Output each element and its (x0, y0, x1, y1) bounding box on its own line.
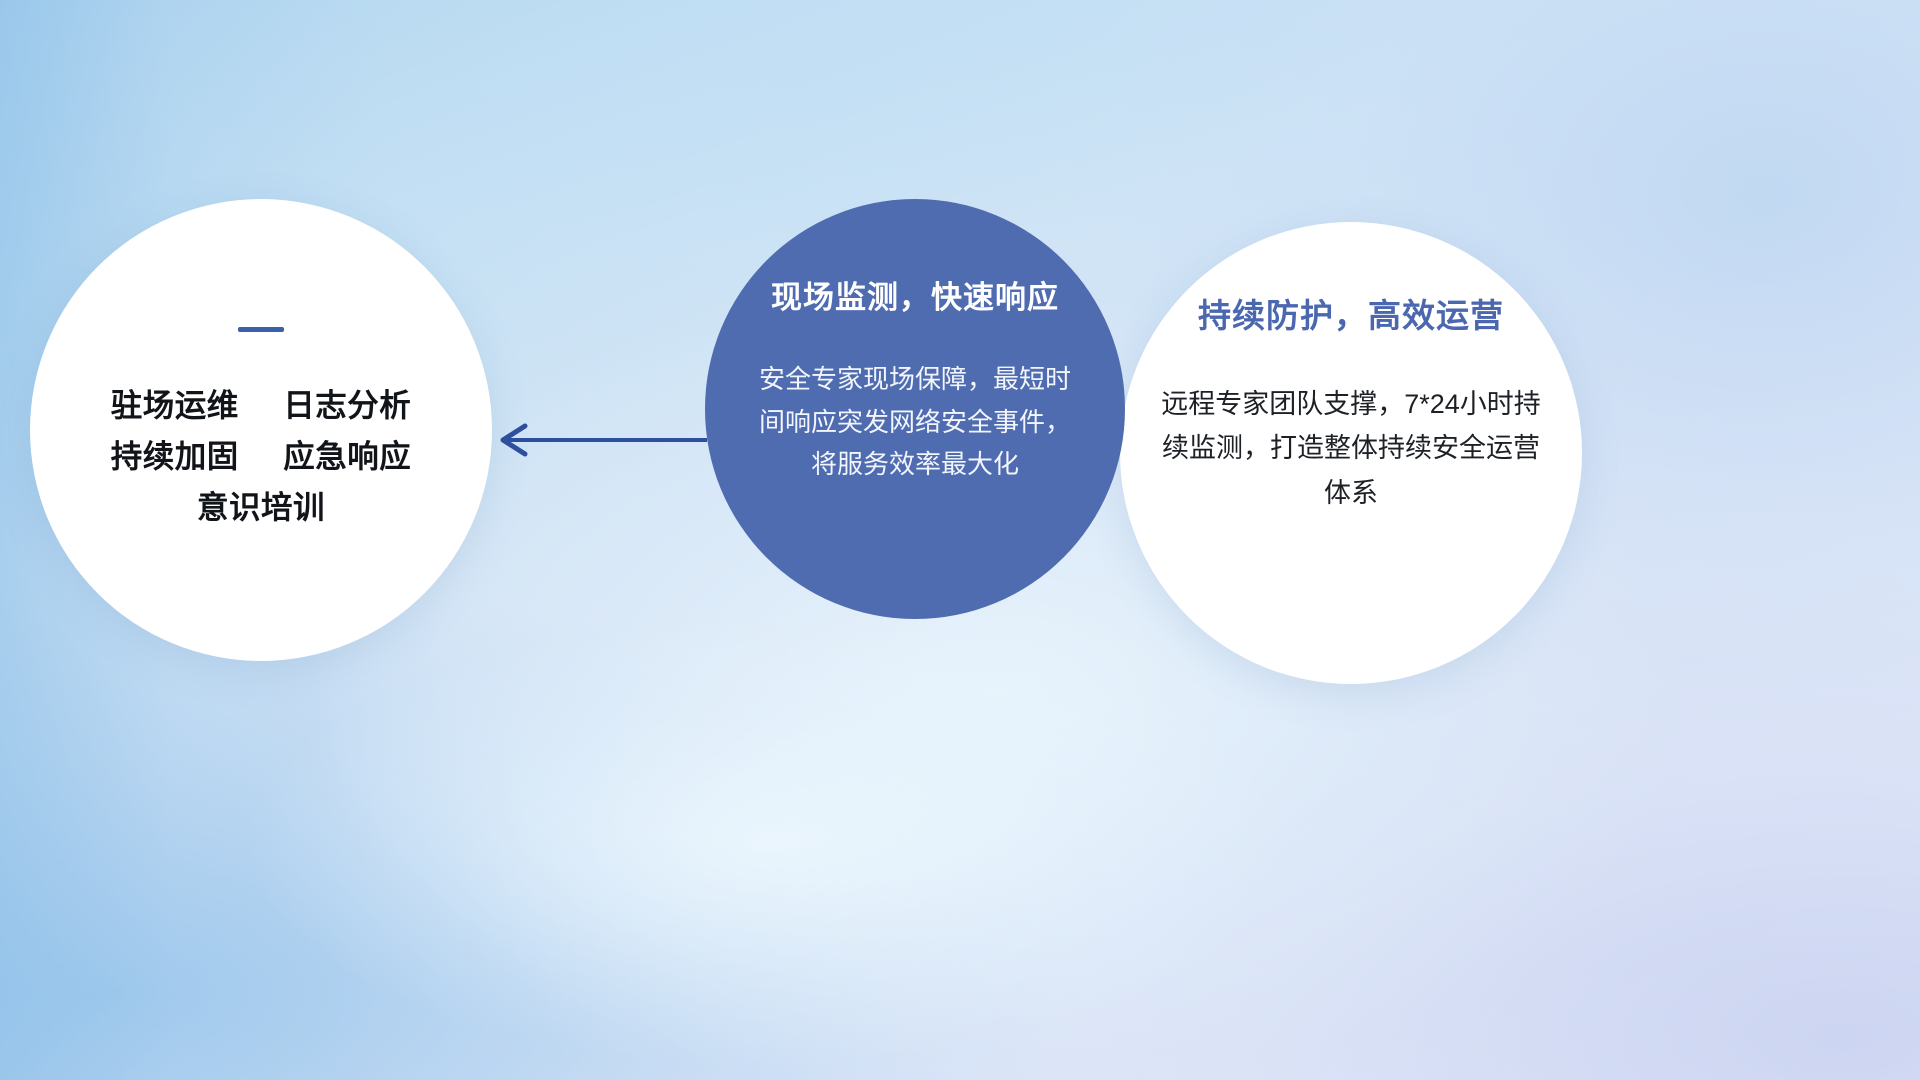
right-card-body: 远程专家团队支撑，7*24小时持续监测，打造整体持续安全运营体系 (1156, 382, 1546, 516)
mid-card-body: 安全专家现场保障，最短时间响应突发网络安全事件，将服务效率最大化 (750, 358, 1080, 486)
right-card-title: 持续防护，高效运营 (1198, 296, 1504, 336)
keyword-awareness-training: 意识培训 (197, 489, 325, 525)
continuous-protection-card: 持续防护，高效运营 远程专家团队支撑，7*24小时持续监测，打造整体持续安全运营… (1120, 222, 1582, 684)
keyword-row-1: 驻场运维 日志分析 (111, 380, 412, 431)
keyword-row-3: 意识培训 (197, 482, 325, 533)
keyword-emergency-response: 应急响应 (283, 438, 411, 474)
keyword-log-analysis: 日志分析 (283, 387, 411, 423)
divider-dash (238, 327, 284, 332)
onsite-monitoring-card: 现场监测，快速响应 安全专家现场保障，最短时间响应突发网络安全事件，将服务效率最… (705, 199, 1125, 619)
keyword-on-site-ops: 驻场运维 (111, 387, 239, 423)
mid-card-title: 现场监测，快速响应 (771, 279, 1059, 316)
keyword-row-2: 持续加固 应急响应 (111, 431, 412, 482)
keywords-card: 驻场运维 日志分析 持续加固 应急响应 意识培训 (30, 199, 492, 661)
slide-canvas: 驻场运维 日志分析 持续加固 应急响应 意识培训 持续防护，高效运营 远程专家团… (0, 0, 1920, 1080)
keyword-continuous-hardening: 持续加固 (111, 438, 239, 474)
flow-arrow-left (485, 412, 715, 468)
